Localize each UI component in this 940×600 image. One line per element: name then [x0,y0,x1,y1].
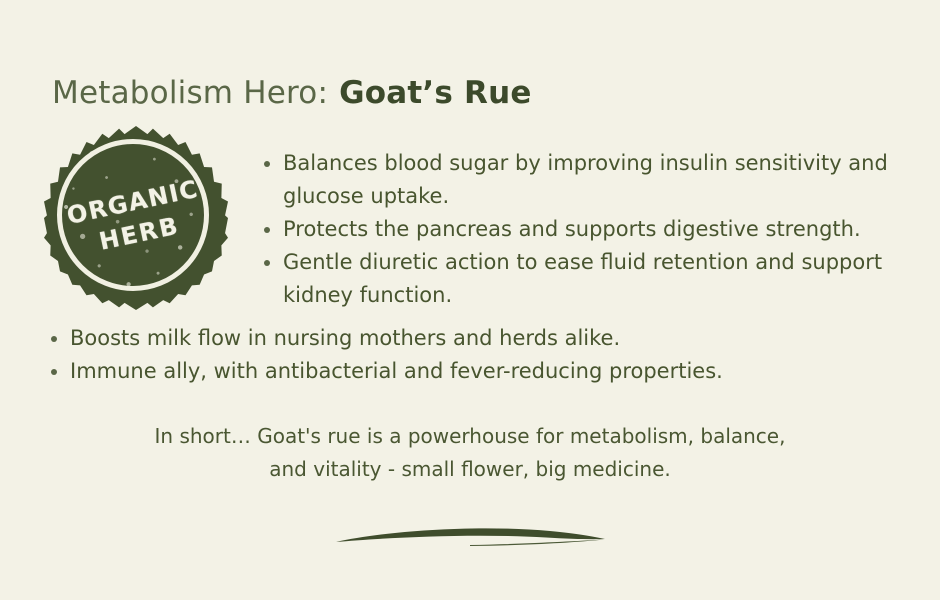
infographic-card: Metabolism Hero: Goat’s Rue ORGANIC HERB… [0,0,940,600]
benefits-list-full: Boosts milk flow in nursing mothers and … [47,322,927,388]
title-herb-name: Goat’s Rue [339,75,531,111]
bullet-dot-icon [51,369,57,375]
list-item: Protects the pancreas and supports diges… [260,213,920,246]
list-item-text: Protects the pancreas and supports diges… [283,213,920,246]
list-item-text: Gentle diuretic action to ease fluid ret… [283,246,920,312]
summary-line-1: In short… Goat's rue is a powerhouse for… [70,420,870,453]
list-item-text: Immune ally, with antibacterial and feve… [70,355,927,388]
list-item: Immune ally, with antibacterial and feve… [47,355,927,388]
title-prefix: Metabolism Hero: [52,75,328,111]
list-item: Balances blood sugar by improving insuli… [260,147,920,213]
bullet-dot-icon [264,260,270,266]
flourish-stroke-main [336,528,605,542]
list-item-text: Balances blood sugar by improving insuli… [283,147,920,213]
list-item: Boosts milk flow in nursing mothers and … [47,322,927,355]
flourish-stroke-tail [470,540,604,547]
bullet-dot-icon [264,227,270,233]
bullet-dot-icon [51,336,57,342]
badge-text-group: ORGANIC HERB [27,109,245,327]
page-title: Metabolism Hero: Goat’s Rue [52,73,532,113]
bullet-dot-icon [264,161,270,167]
summary-line-2: and vitality - small flower, big medicin… [70,453,870,486]
list-item: Gentle diuretic action to ease fluid ret… [260,246,920,312]
summary-text: In short… Goat's rue is a powerhouse for… [70,420,870,486]
organic-herb-badge: ORGANIC HERB [44,126,228,310]
list-item-text: Boosts milk flow in nursing mothers and … [70,322,927,355]
brush-flourish-divider [320,512,620,562]
benefits-list-indented: Balances blood sugar by improving insuli… [260,147,920,312]
